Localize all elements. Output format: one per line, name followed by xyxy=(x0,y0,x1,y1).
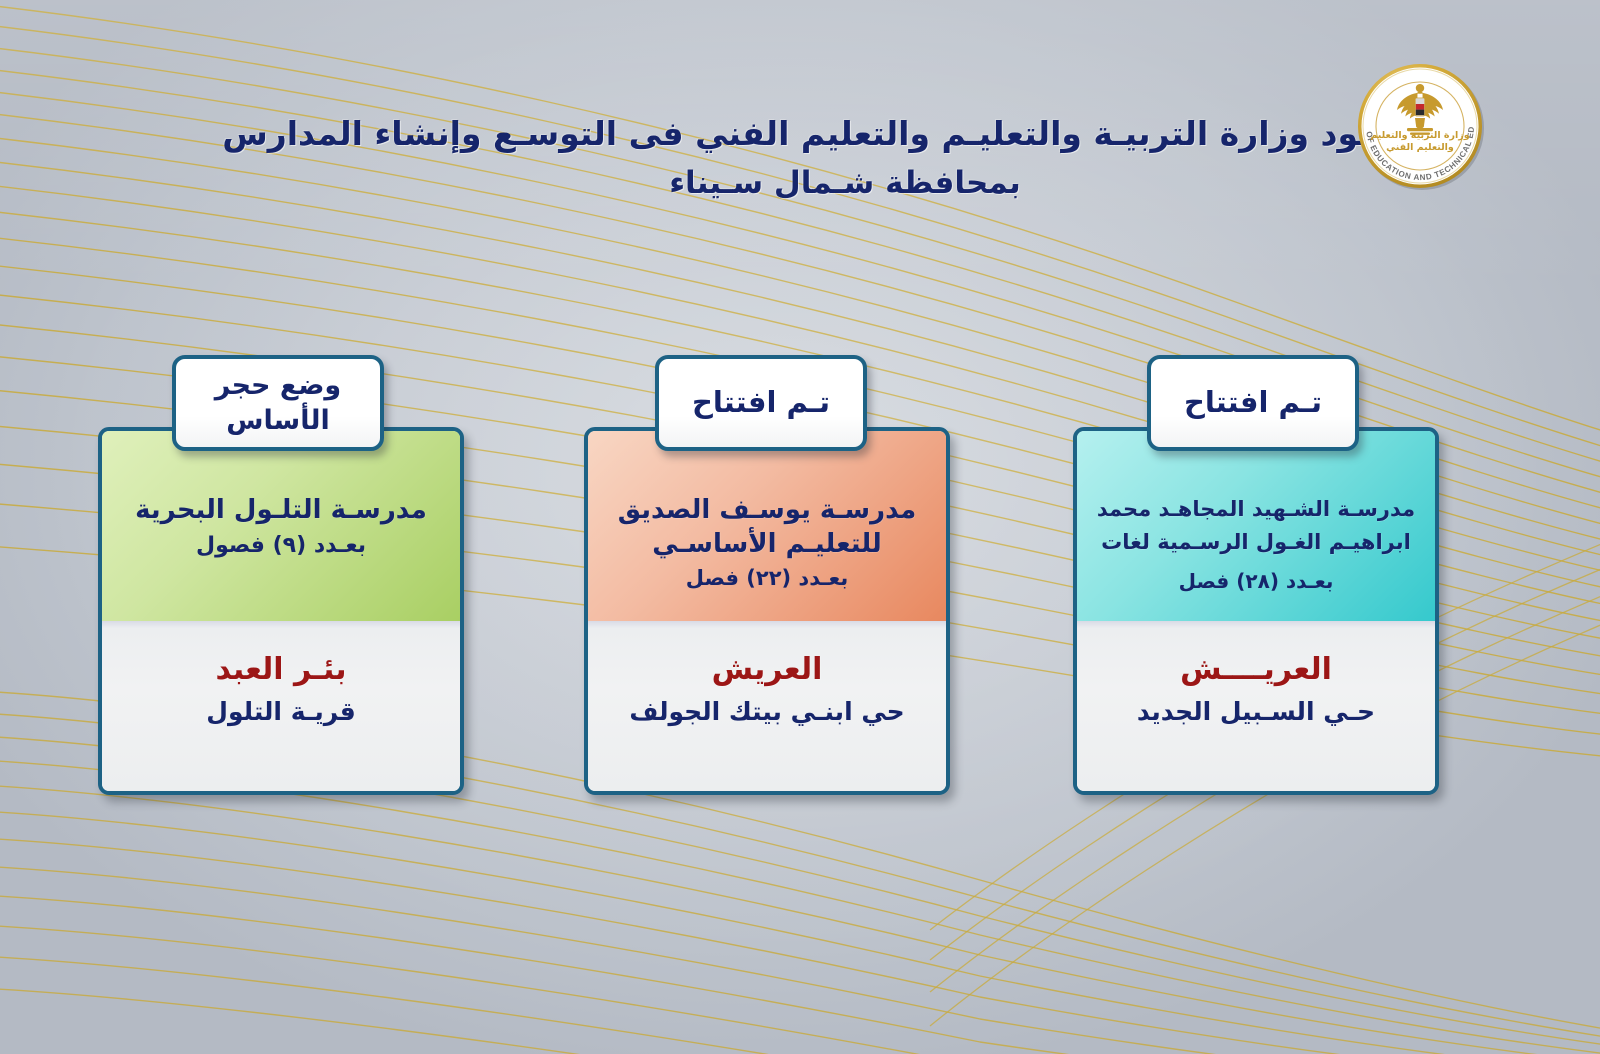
status-badge-label: تـم افتتاح xyxy=(1184,384,1322,422)
school-card-bottom-section: العريش حي ابنـي بيتك الجولف xyxy=(588,621,946,791)
district-name: حـي السـبيل الجديد xyxy=(1091,695,1421,728)
status-badge-label: تـم افتتاح xyxy=(692,384,830,422)
status-badge[interactable]: تـم افتتاح xyxy=(1147,355,1359,451)
school-classes-count: بعـدد (٢٢) فصل xyxy=(686,564,848,592)
district-name: قريـة التلول xyxy=(116,695,446,728)
school-card-top-section: مدرسـة الشـهيد المجاهـد محمد ابراهيـم ال… xyxy=(1077,431,1435,621)
city-name: العريش xyxy=(602,651,932,689)
school-card-top-section: مدرسـة يوسـف الصديق للتعليـم الأساسـي بع… xyxy=(588,431,946,621)
svg-text:والتعليم الفني: والتعليم الفني xyxy=(1386,142,1454,153)
school-cards-row: مدرسـة التلـول البحرية بعـدد (٩) فصول بئ… xyxy=(0,355,1600,815)
ministry-of-education-seal-icon: MINISTRY OF EDUCATION AND TECHNICAL EDUC… xyxy=(1354,60,1486,192)
header: جهـود وزارة التربيـة والتعليـم والتعليم … xyxy=(0,0,1600,250)
school-card-top-section: مدرسـة التلـول البحرية بعـدد (٩) فصول xyxy=(102,431,460,621)
school-classes-count: بعـدد (٩) فصول xyxy=(196,531,366,561)
school-classes-count: بعـدد (٢٨) فصل xyxy=(1179,568,1334,595)
city-name: بئـر العبد xyxy=(116,651,446,689)
city-name: العريــــش xyxy=(1091,651,1421,689)
svg-text:وزارة التربية والتعليم: وزارة التربية والتعليم xyxy=(1370,130,1469,141)
school-card-bottom-section: العريــــش حـي السـبيل الجديد xyxy=(1077,621,1435,791)
status-badge[interactable]: تـم افتتاح xyxy=(655,355,867,451)
title-line-secondary: بمحافظة شـمال سـيناء xyxy=(275,159,1415,207)
school-card[interactable]: مدرسـة التلـول البحرية بعـدد (٩) فصول بئ… xyxy=(98,427,464,795)
school-name: مدرسـة يوسـف الصديق للتعليـم الأساسـي xyxy=(606,493,928,562)
status-badge-label: وضع حجر الأساس xyxy=(186,368,370,438)
school-card[interactable]: مدرسـة يوسـف الصديق للتعليـم الأساسـي بع… xyxy=(584,427,950,795)
school-name: مدرسـة التلـول البحرية xyxy=(135,493,427,527)
school-name: مدرسـة الشـهيد المجاهـد محمد ابراهيـم ال… xyxy=(1095,493,1417,558)
title-line-primary: جهـود وزارة التربيـة والتعليـم والتعليم … xyxy=(275,108,1415,159)
district-name: حي ابنـي بيتك الجولف xyxy=(602,695,932,728)
status-badge[interactable]: وضع حجر الأساس xyxy=(172,355,384,451)
school-card[interactable]: مدرسـة الشـهيد المجاهـد محمد ابراهيـم ال… xyxy=(1073,427,1439,795)
page-title: جهـود وزارة التربيـة والتعليـم والتعليم … xyxy=(275,108,1415,207)
school-card-bottom-section: بئـر العبد قريـة التلول xyxy=(102,621,460,791)
